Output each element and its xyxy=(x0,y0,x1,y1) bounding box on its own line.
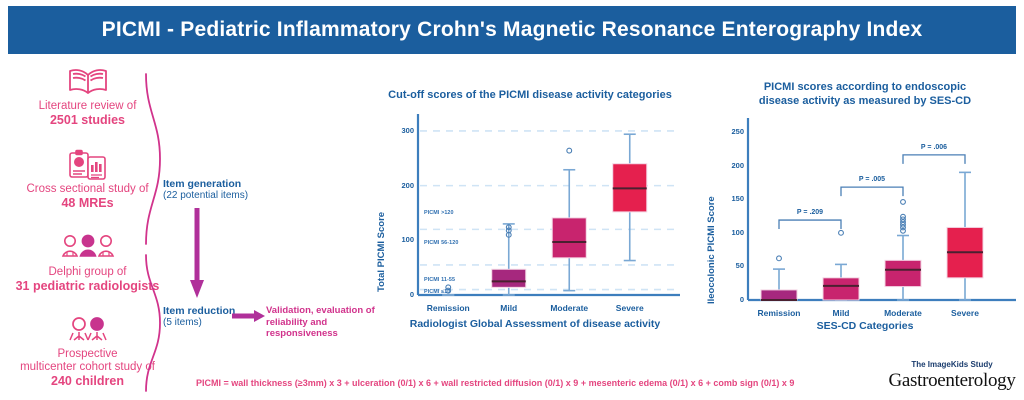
boxplot-canvas xyxy=(700,72,1024,340)
y-axis-tick: 0 xyxy=(384,290,414,299)
infographic-root: PICMI - Pediatric Inflammatory Crohn's M… xyxy=(0,0,1024,400)
journal-logo: The ImageKids Study Gastroenterology xyxy=(884,360,1020,391)
logo-study-name: The ImageKids Study xyxy=(884,360,1020,370)
chart-cutoff-scores: Cut-off scores of the PICMI disease acti… xyxy=(370,80,690,340)
cutoff-label: PICMI 56-120 xyxy=(424,240,458,246)
category-label-severe: Severe xyxy=(921,308,1009,318)
boxplot-canvas xyxy=(370,80,690,340)
y-axis-tick: 100 xyxy=(384,235,414,244)
chart-sescd-scores: PICMI scores according to endoscopicdise… xyxy=(700,72,1024,340)
pvalue-label: P = .005 xyxy=(838,176,906,183)
brace-item-reduction xyxy=(143,253,165,393)
stage-title: Item generation xyxy=(163,178,283,190)
picmi-formula: PICMI = wall thickness (≥3mm) x 3 + ulce… xyxy=(196,378,856,388)
y-axis-tick: 0 xyxy=(714,295,744,304)
y-axis-tick: 250 xyxy=(714,127,744,136)
stage-validation: Validation, evaluation of reliability an… xyxy=(266,305,376,340)
logo-journal-name: Gastroenterology xyxy=(884,370,1020,391)
cutoff-label: PICMI ≤10 xyxy=(424,289,450,295)
stage-validation-text: Validation, evaluation of reliability an… xyxy=(266,305,375,339)
y-axis-tick: 100 xyxy=(714,228,744,237)
brace-item-generation xyxy=(143,72,165,247)
y-axis-tick: 50 xyxy=(714,261,744,270)
arrow-right-icon xyxy=(232,309,266,328)
arrow-down-icon xyxy=(189,208,205,305)
stage-subtitle: (22 potential items) xyxy=(163,190,283,202)
header-banner: PICMI - Pediatric Inflammatory Crohn's M… xyxy=(8,6,1016,54)
cutoff-label: PICMI 11-55 xyxy=(424,277,455,283)
category-label-severe: Severe xyxy=(586,303,674,313)
y-axis-tick: 200 xyxy=(714,161,744,170)
page-title: PICMI - Pediatric Inflammatory Crohn's M… xyxy=(102,18,923,42)
pvalue-label: P = .209 xyxy=(776,209,844,216)
y-axis-tick: 150 xyxy=(714,194,744,203)
stage-item-generation: Item generation (22 potential items) xyxy=(163,178,283,202)
y-axis-tick: 300 xyxy=(384,126,414,135)
cutoff-label: PICMI >120 xyxy=(424,210,454,216)
y-axis-tick: 200 xyxy=(384,181,414,190)
pvalue-label: P = .006 xyxy=(900,144,968,151)
